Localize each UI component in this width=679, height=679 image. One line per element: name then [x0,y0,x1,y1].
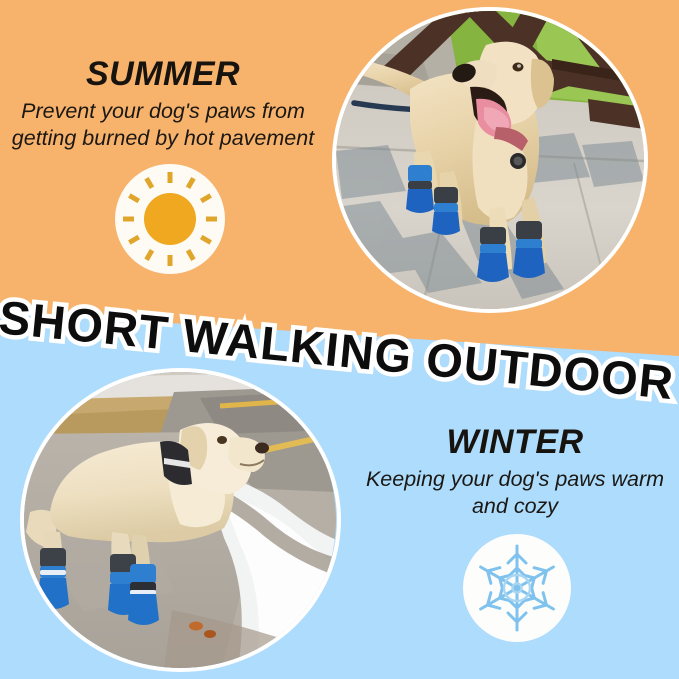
summer-photo-artwork [336,11,644,309]
summer-subtext-line2: getting burned by hot pavement [8,125,318,152]
winter-dog-photo [24,372,337,668]
summer-subtext-line1: Prevent your dog's paws from [8,98,318,125]
winter-text-block: WINTER Keeping your dog's paws warm and … [360,424,670,520]
product-infographic: SUMMER Prevent your dog's paws from gett… [0,0,679,679]
sun-icon [115,164,225,274]
winter-heading: WINTER [360,424,670,460]
summer-dog-photo [336,11,644,309]
sun-icon-artwork [115,164,225,274]
winter-photo-artwork [24,372,337,668]
snowflake-icon [463,534,571,642]
summer-text-block: SUMMER Prevent your dog's paws from gett… [8,56,318,152]
summer-heading: SUMMER [8,56,318,92]
snowflake-icon-artwork [463,534,571,642]
winter-subtext-line1: Keeping your dog's paws warm [360,466,670,493]
winter-subtext-line2: and cozy [360,493,670,520]
